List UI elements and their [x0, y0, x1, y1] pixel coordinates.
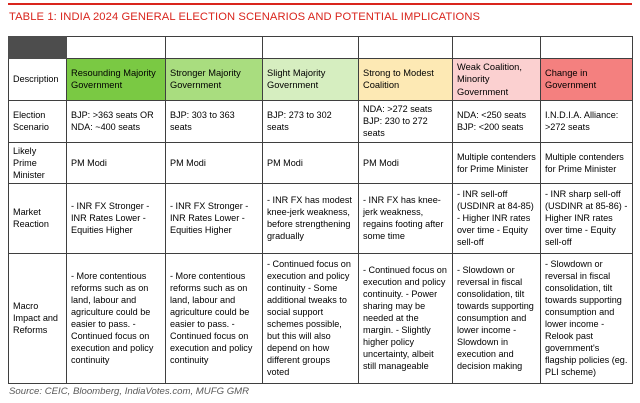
market-reaction-scenario-3: - INR FX has modest knee-jerk weakness, … — [263, 183, 359, 253]
election-scenarios-table: Scenario 1 Scenario 2 Scenario 3 Scenari… — [8, 36, 633, 384]
row-label-description: Description — [9, 59, 67, 101]
market-reaction-scenario-1: - INR FX Stronger - INR Rates Lower - Eq… — [67, 183, 166, 253]
description-scenario-6: Change in Government — [541, 59, 633, 101]
table-figure: TABLE 1: INDIA 2024 GENERAL ELECTION SCE… — [0, 0, 640, 403]
macro-impact-scenario-2: - More contentious reforms such as on la… — [166, 253, 263, 383]
market-reaction-scenario-5: - INR sell-off (USDINR at 84-85) - Highe… — [453, 183, 541, 253]
description-scenario-1: Resounding Majority Government — [67, 59, 166, 101]
election-scenario-6: I.N.D.I.A. Alliance: >272 seats — [541, 100, 633, 142]
description-scenario-2: Stronger Majority Government — [166, 59, 263, 101]
header-scenario-5: Scenario 5 — [453, 37, 541, 59]
source-caption: Source: CEIC, Bloomberg, IndiaVotes.com,… — [9, 386, 249, 397]
table-row-macro-impact-and-reforms: Macro Impact and Reforms - More contenti… — [9, 253, 633, 383]
macro-impact-scenario-5: - Slowdown or reversal in fiscal consoli… — [453, 253, 541, 383]
header-scenario-3: Scenario 3 — [263, 37, 359, 59]
market-reaction-scenario-2: - INR FX Stronger - INR Rates Lower - Eq… — [166, 183, 263, 253]
title-divider-rule — [8, 3, 632, 5]
row-label-market-reaction: Market Reaction — [9, 183, 67, 253]
likely-pm-scenario-6: Multiple contenders for Prime Minister — [541, 142, 633, 183]
description-scenario-4: Strong to Modest Coalition — [359, 59, 453, 101]
macro-impact-scenario-4: - Continued focus on execution and polic… — [359, 253, 453, 383]
header-scenario-1: Scenario 1 — [67, 37, 166, 59]
macro-impact-scenario-1: - More contentious reforms such as on la… — [67, 253, 166, 383]
row-label-macro-impact-and-reforms: Macro Impact and Reforms — [9, 253, 67, 383]
election-scenario-4: NDA: >272 seats BJP: 230 to 272 seats — [359, 100, 453, 142]
header-scenario-2: Scenario 2 — [166, 37, 263, 59]
row-label-likely-prime-minister: Likely Prime Minister — [9, 142, 67, 183]
market-reaction-scenario-4: - INR FX has knee-jerk weakness, regains… — [359, 183, 453, 253]
market-reaction-scenario-6: - INR sharp sell-off (USDINR at 85-86) -… — [541, 183, 633, 253]
election-scenario-5: NDA: <250 seats BJP: <200 seats — [453, 100, 541, 142]
table-row-election-scenario: Election Scenario BJP: >363 seats OR NDA… — [9, 100, 633, 142]
election-scenario-1: BJP: >363 seats OR NDA: ~400 seats — [67, 100, 166, 142]
header-corner-cell — [9, 37, 67, 59]
table-row-market-reaction: Market Reaction - INR FX Stronger - INR … — [9, 183, 633, 253]
election-scenario-2: BJP: 303 to 363 seats — [166, 100, 263, 142]
likely-pm-scenario-2: PM Modi — [166, 142, 263, 183]
likely-pm-scenario-1: PM Modi — [67, 142, 166, 183]
table-header-row: Scenario 1 Scenario 2 Scenario 3 Scenari… — [9, 37, 633, 59]
election-scenario-3: BJP: 273 to 302 seats — [263, 100, 359, 142]
row-label-election-scenario: Election Scenario — [9, 100, 67, 142]
description-scenario-5: Weak Coalition, Minority Government — [453, 59, 541, 101]
likely-pm-scenario-4: PM Modi — [359, 142, 453, 183]
macro-impact-scenario-3: - Continued focus on execution and polic… — [263, 253, 359, 383]
table-title: TABLE 1: INDIA 2024 GENERAL ELECTION SCE… — [9, 11, 480, 23]
likely-pm-scenario-3: PM Modi — [263, 142, 359, 183]
macro-impact-scenario-6: - Slowdown or reversal in fiscal consoli… — [541, 253, 633, 383]
header-scenario-6: Scenario 6 — [541, 37, 633, 59]
likely-pm-scenario-5: Multiple contenders for Prime Minister — [453, 142, 541, 183]
table-row-description: Description Resounding Majority Governme… — [9, 59, 633, 101]
header-scenario-4: Scenario 4 — [359, 37, 453, 59]
table-row-likely-prime-minister: Likely Prime Minister PM Modi PM Modi PM… — [9, 142, 633, 183]
description-scenario-3: Slight Majority Government — [263, 59, 359, 101]
